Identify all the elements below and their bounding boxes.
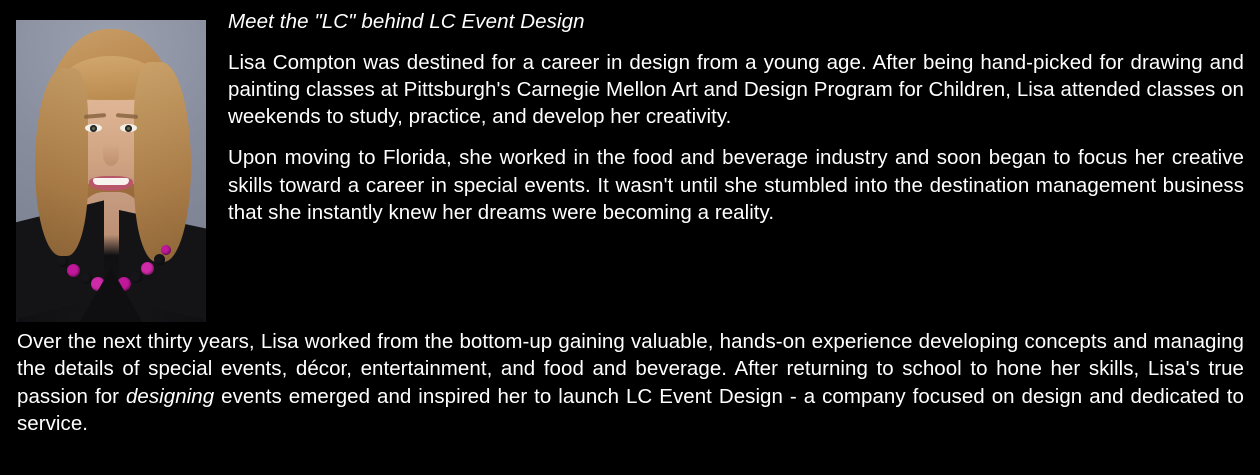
teeth-shape	[93, 178, 128, 186]
hair-right-shape	[134, 62, 191, 261]
necklace-bead	[154, 254, 165, 265]
eye-right	[120, 124, 137, 132]
nose-shape	[103, 144, 119, 166]
about-lisa-compton-panel: Meet the "LC" behind LC Event Design Lis…	[0, 0, 1260, 475]
necklace-bead	[130, 271, 142, 283]
bio-paragraph-3-emphasis: designing	[126, 385, 214, 408]
necklace-bead	[80, 272, 92, 284]
necklace-bead	[141, 262, 154, 275]
necklace-bead	[57, 256, 68, 267]
necklace-bead	[67, 264, 80, 277]
necklace-bead	[161, 245, 171, 255]
hair-left-shape	[35, 68, 88, 255]
bio-paragraph-3: Over the next thirty years, Lisa worked …	[17, 328, 1244, 437]
bio-bottom-section: Over the next thirty years, Lisa worked …	[0, 328, 1260, 437]
mouth-shape	[89, 176, 133, 191]
portrait-photo-lisa-compton	[16, 20, 206, 322]
